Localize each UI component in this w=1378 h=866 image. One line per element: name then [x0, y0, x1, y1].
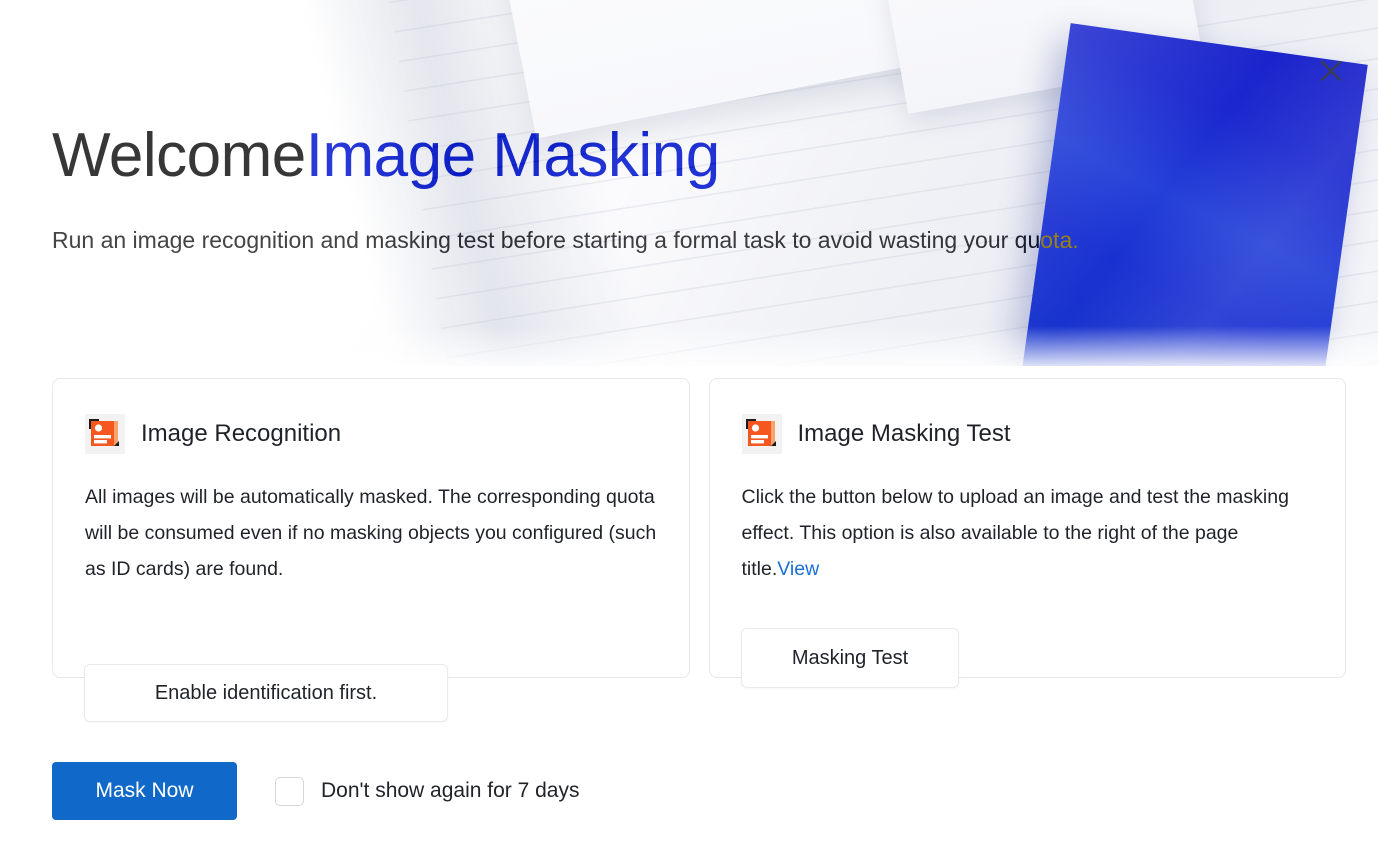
view-link[interactable]: View [777, 558, 819, 580]
dont-show-again-checkbox[interactable] [275, 777, 304, 806]
mask-now-button[interactable]: Mask Now [52, 762, 237, 820]
card-description: Click the button below to upload an imag… [742, 479, 1314, 587]
welcome-dialog: WelcomeImage Masking Run an image recogn… [0, 0, 1378, 866]
card-header: Image Recognition [85, 411, 657, 457]
card-description-text: Click the button below to upload an imag… [742, 486, 1289, 580]
hero-banner [0, 0, 1378, 366]
dialog-footer: Mask Now Don't show again for 7 days [52, 762, 580, 820]
masking-test-button[interactable]: Masking Test [741, 628, 959, 688]
card-title: Image Recognition [141, 419, 341, 449]
card-list: Image Recognition All images will be aut… [52, 378, 1346, 678]
id-card-icon [742, 414, 782, 454]
dont-show-again-label: Don't show again for 7 days [321, 779, 580, 803]
close-icon[interactable] [1314, 54, 1348, 88]
card-title: Image Masking Test [798, 419, 1011, 449]
card-image-recognition: Image Recognition All images will be aut… [52, 378, 690, 678]
enable-identification-button[interactable]: Enable identification first. [84, 664, 448, 722]
card-header: Image Masking Test [742, 411, 1314, 457]
dialog-body: Image Recognition All images will be aut… [0, 366, 1378, 866]
hero-bottom-fade [0, 326, 1378, 366]
id-card-icon [85, 414, 125, 454]
dont-show-again-checkbox-row[interactable]: Don't show again for 7 days [275, 777, 580, 806]
card-description: All images will be automatically masked.… [85, 479, 657, 587]
